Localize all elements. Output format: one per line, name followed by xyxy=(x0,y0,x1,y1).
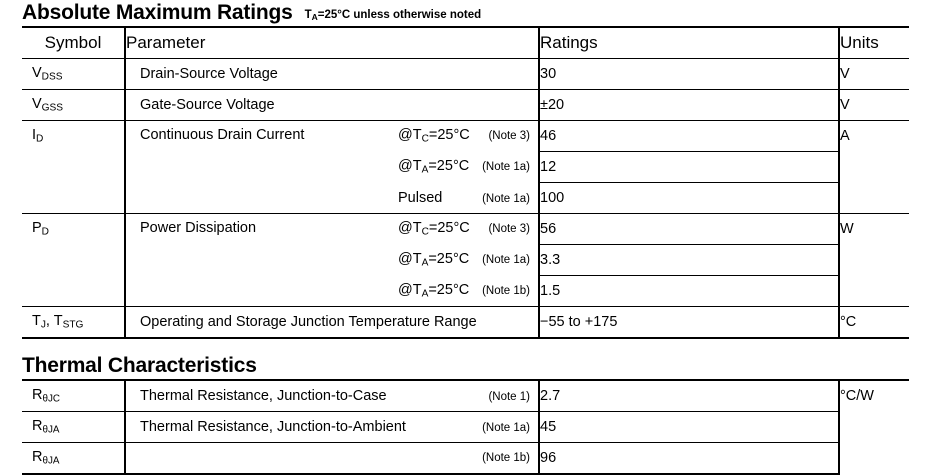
condition-subscript: C xyxy=(422,227,429,238)
symbol-subscript: D xyxy=(36,134,43,145)
parameter-note: (Note 1a) xyxy=(482,161,530,173)
symbol-main: V xyxy=(32,96,42,112)
table-row: @TA=25°C (Note 1a) 3.3 xyxy=(22,245,909,276)
symbol-subscript-2: STG xyxy=(63,320,84,331)
parameter-condition: @TA=25°C xyxy=(398,158,482,176)
column-header-units: Units xyxy=(839,27,909,59)
parameter-text: Thermal Resistance, Junction-to-Ambient xyxy=(140,419,482,435)
row-unit: °C/W xyxy=(839,380,909,412)
row-parameter: @TA=25°C (Note 1b) xyxy=(125,276,539,307)
row-rating: 12 xyxy=(539,152,839,183)
column-header-symbol: Symbol xyxy=(22,27,125,59)
row-rating: 3.3 xyxy=(539,245,839,276)
table-row: @TA=25°C (Note 1b) 1.5 xyxy=(22,276,909,307)
row-parameter: Continuous Drain Current @TC=25°C (Note … xyxy=(125,121,539,152)
row-symbol: VGSS xyxy=(22,90,125,121)
section-title-absolute-maximum-ratings: Absolute Maximum Ratings xyxy=(22,0,293,26)
parameter-condition: @TC=25°C xyxy=(398,220,488,238)
parameter-note: (Note 1a) xyxy=(482,254,530,266)
table-row: ID Continuous Drain Current @TC=25°C (No… xyxy=(22,121,909,152)
parameter-condition: Pulsed xyxy=(398,190,482,206)
symbol-subscript: θJC xyxy=(42,394,60,405)
condition-suffix: =25°C xyxy=(428,282,469,298)
row-rating: 100 xyxy=(539,183,839,214)
row-rating: 1.5 xyxy=(539,276,839,307)
row-symbol: RθJA xyxy=(22,443,125,475)
row-rating: 30 xyxy=(539,59,839,90)
symbol-main: P xyxy=(32,220,42,236)
table-row: RθJA (Note 1b) 96 xyxy=(22,443,909,475)
absolute-maximum-ratings-heading: Absolute Maximum Ratings TA=25°C unless … xyxy=(22,0,909,26)
row-unit xyxy=(839,276,909,307)
symbol-main-2: , T xyxy=(46,313,63,329)
row-symbol xyxy=(22,276,125,307)
condition-suffix: =25°C xyxy=(428,158,469,174)
table-header-row: Symbol Parameter Ratings Units xyxy=(22,27,909,59)
row-rating: 45 xyxy=(539,412,839,443)
table-row: TJ, TSTG Operating and Storage Junction … xyxy=(22,307,909,339)
parameter-note: (Note 3) xyxy=(488,130,530,142)
section-condition-note: TA=25°C unless otherwise noted xyxy=(305,2,482,30)
condition-prefix: @T xyxy=(398,127,422,143)
table-row: RθJC Thermal Resistance, Junction-to-Cas… xyxy=(22,380,909,412)
condition-prefix: @T xyxy=(398,220,422,236)
section-condition-prefix: T xyxy=(305,9,312,21)
condition-prefix: @T xyxy=(398,158,422,174)
row-symbol xyxy=(22,245,125,276)
row-unit: V xyxy=(839,90,909,121)
row-rating: 56 xyxy=(539,214,839,245)
row-unit xyxy=(839,412,909,443)
row-symbol: VDSS xyxy=(22,59,125,90)
parameter-text: Thermal Resistance, Junction-to-Case xyxy=(140,388,488,404)
parameter-condition: @TA=25°C xyxy=(398,282,482,300)
section-title-thermal-characteristics: Thermal Characteristics xyxy=(22,353,257,379)
condition-suffix: =25°C xyxy=(428,251,469,267)
row-unit: V xyxy=(839,59,909,90)
thermal-characteristics-heading: Thermal Characteristics xyxy=(22,353,909,379)
parameter-text: Continuous Drain Current xyxy=(140,127,398,143)
table-row: VGSS Gate-Source Voltage ±20 V xyxy=(22,90,909,121)
condition-prefix: @T xyxy=(398,282,422,298)
parameter-note: (Note 1b) xyxy=(482,452,530,464)
row-symbol: RθJC xyxy=(22,380,125,412)
row-unit xyxy=(839,152,909,183)
parameter-note: (Note 3) xyxy=(488,223,530,235)
thermal-characteristics-table: RθJC Thermal Resistance, Junction-to-Cas… xyxy=(22,379,909,475)
parameter-text: Operating and Storage Junction Temperatu… xyxy=(140,314,530,330)
row-unit: °C xyxy=(839,307,909,339)
column-header-parameter: Parameter xyxy=(125,27,539,59)
row-symbol xyxy=(22,152,125,183)
symbol-main: V xyxy=(32,65,42,81)
row-symbol: RθJA xyxy=(22,412,125,443)
condition-prefix: Pulsed xyxy=(398,190,442,206)
row-unit xyxy=(839,443,909,475)
condition-suffix: =25°C xyxy=(429,127,470,143)
section-spacer xyxy=(22,339,909,353)
row-unit xyxy=(839,183,909,214)
symbol-subscript: D xyxy=(42,227,49,238)
row-rating: 96 xyxy=(539,443,839,475)
symbol-main: R xyxy=(32,449,42,465)
parameter-text: Drain-Source Voltage xyxy=(140,66,398,82)
column-header-ratings: Ratings xyxy=(539,27,839,59)
row-symbol: ID xyxy=(22,121,125,152)
row-parameter: Thermal Resistance, Junction-to-Ambient … xyxy=(125,412,539,443)
parameter-text: Power Dissipation xyxy=(140,220,398,236)
row-rating: 46 xyxy=(539,121,839,152)
parameter-note: (Note 1b) xyxy=(482,285,530,297)
row-parameter: Drain-Source Voltage xyxy=(125,59,539,90)
row-symbol: TJ, TSTG xyxy=(22,307,125,339)
row-rating: ±20 xyxy=(539,90,839,121)
parameter-note: (Note 1) xyxy=(488,391,530,403)
parameter-note: (Note 1a) xyxy=(482,422,530,434)
symbol-main: R xyxy=(32,418,42,434)
symbol-main: R xyxy=(32,387,42,403)
section-condition-suffix: =25°C unless otherwise noted xyxy=(318,9,481,21)
row-parameter: Operating and Storage Junction Temperatu… xyxy=(125,307,539,339)
absolute-maximum-ratings-table: Symbol Parameter Ratings Units VDSS Drai… xyxy=(22,26,909,339)
table-row: Pulsed (Note 1a) 100 xyxy=(22,183,909,214)
symbol-subscript: DSS xyxy=(42,72,63,83)
parameter-condition: @TC=25°C xyxy=(398,127,488,145)
row-parameter: @TA=25°C (Note 1a) xyxy=(125,152,539,183)
row-unit: A xyxy=(839,121,909,152)
table-row: VDSS Drain-Source Voltage 30 V xyxy=(22,59,909,90)
condition-prefix: @T xyxy=(398,251,422,267)
row-rating: 2.7 xyxy=(539,380,839,412)
datasheet-page: Absolute Maximum Ratings TA=25°C unless … xyxy=(0,0,931,436)
row-parameter: Thermal Resistance, Junction-to-Case (No… xyxy=(125,380,539,412)
table-row: @TA=25°C (Note 1a) 12 xyxy=(22,152,909,183)
row-parameter: Gate-Source Voltage xyxy=(125,90,539,121)
row-parameter: @TA=25°C (Note 1a) xyxy=(125,245,539,276)
row-parameter: (Note 1b) xyxy=(125,443,539,475)
row-symbol xyxy=(22,183,125,214)
parameter-text: Gate-Source Voltage xyxy=(140,97,398,113)
symbol-main: T xyxy=(32,313,41,329)
row-unit: W xyxy=(839,214,909,245)
row-parameter: Pulsed (Note 1a) xyxy=(125,183,539,214)
row-symbol: PD xyxy=(22,214,125,245)
row-unit xyxy=(839,245,909,276)
row-rating: −55 to +175 xyxy=(539,307,839,339)
row-parameter: Power Dissipation @TC=25°C (Note 3) xyxy=(125,214,539,245)
condition-suffix: =25°C xyxy=(429,220,470,236)
parameter-condition: @TA=25°C xyxy=(398,251,482,269)
condition-subscript: C xyxy=(422,134,429,145)
table-row: PD Power Dissipation @TC=25°C (Note 3) 5… xyxy=(22,214,909,245)
parameter-note: (Note 1a) xyxy=(482,193,530,205)
symbol-subscript: θJA xyxy=(42,425,59,436)
symbol-subscript: θJA xyxy=(42,456,59,467)
table-row: RθJA Thermal Resistance, Junction-to-Amb… xyxy=(22,412,909,443)
symbol-subscript: GSS xyxy=(42,103,63,114)
